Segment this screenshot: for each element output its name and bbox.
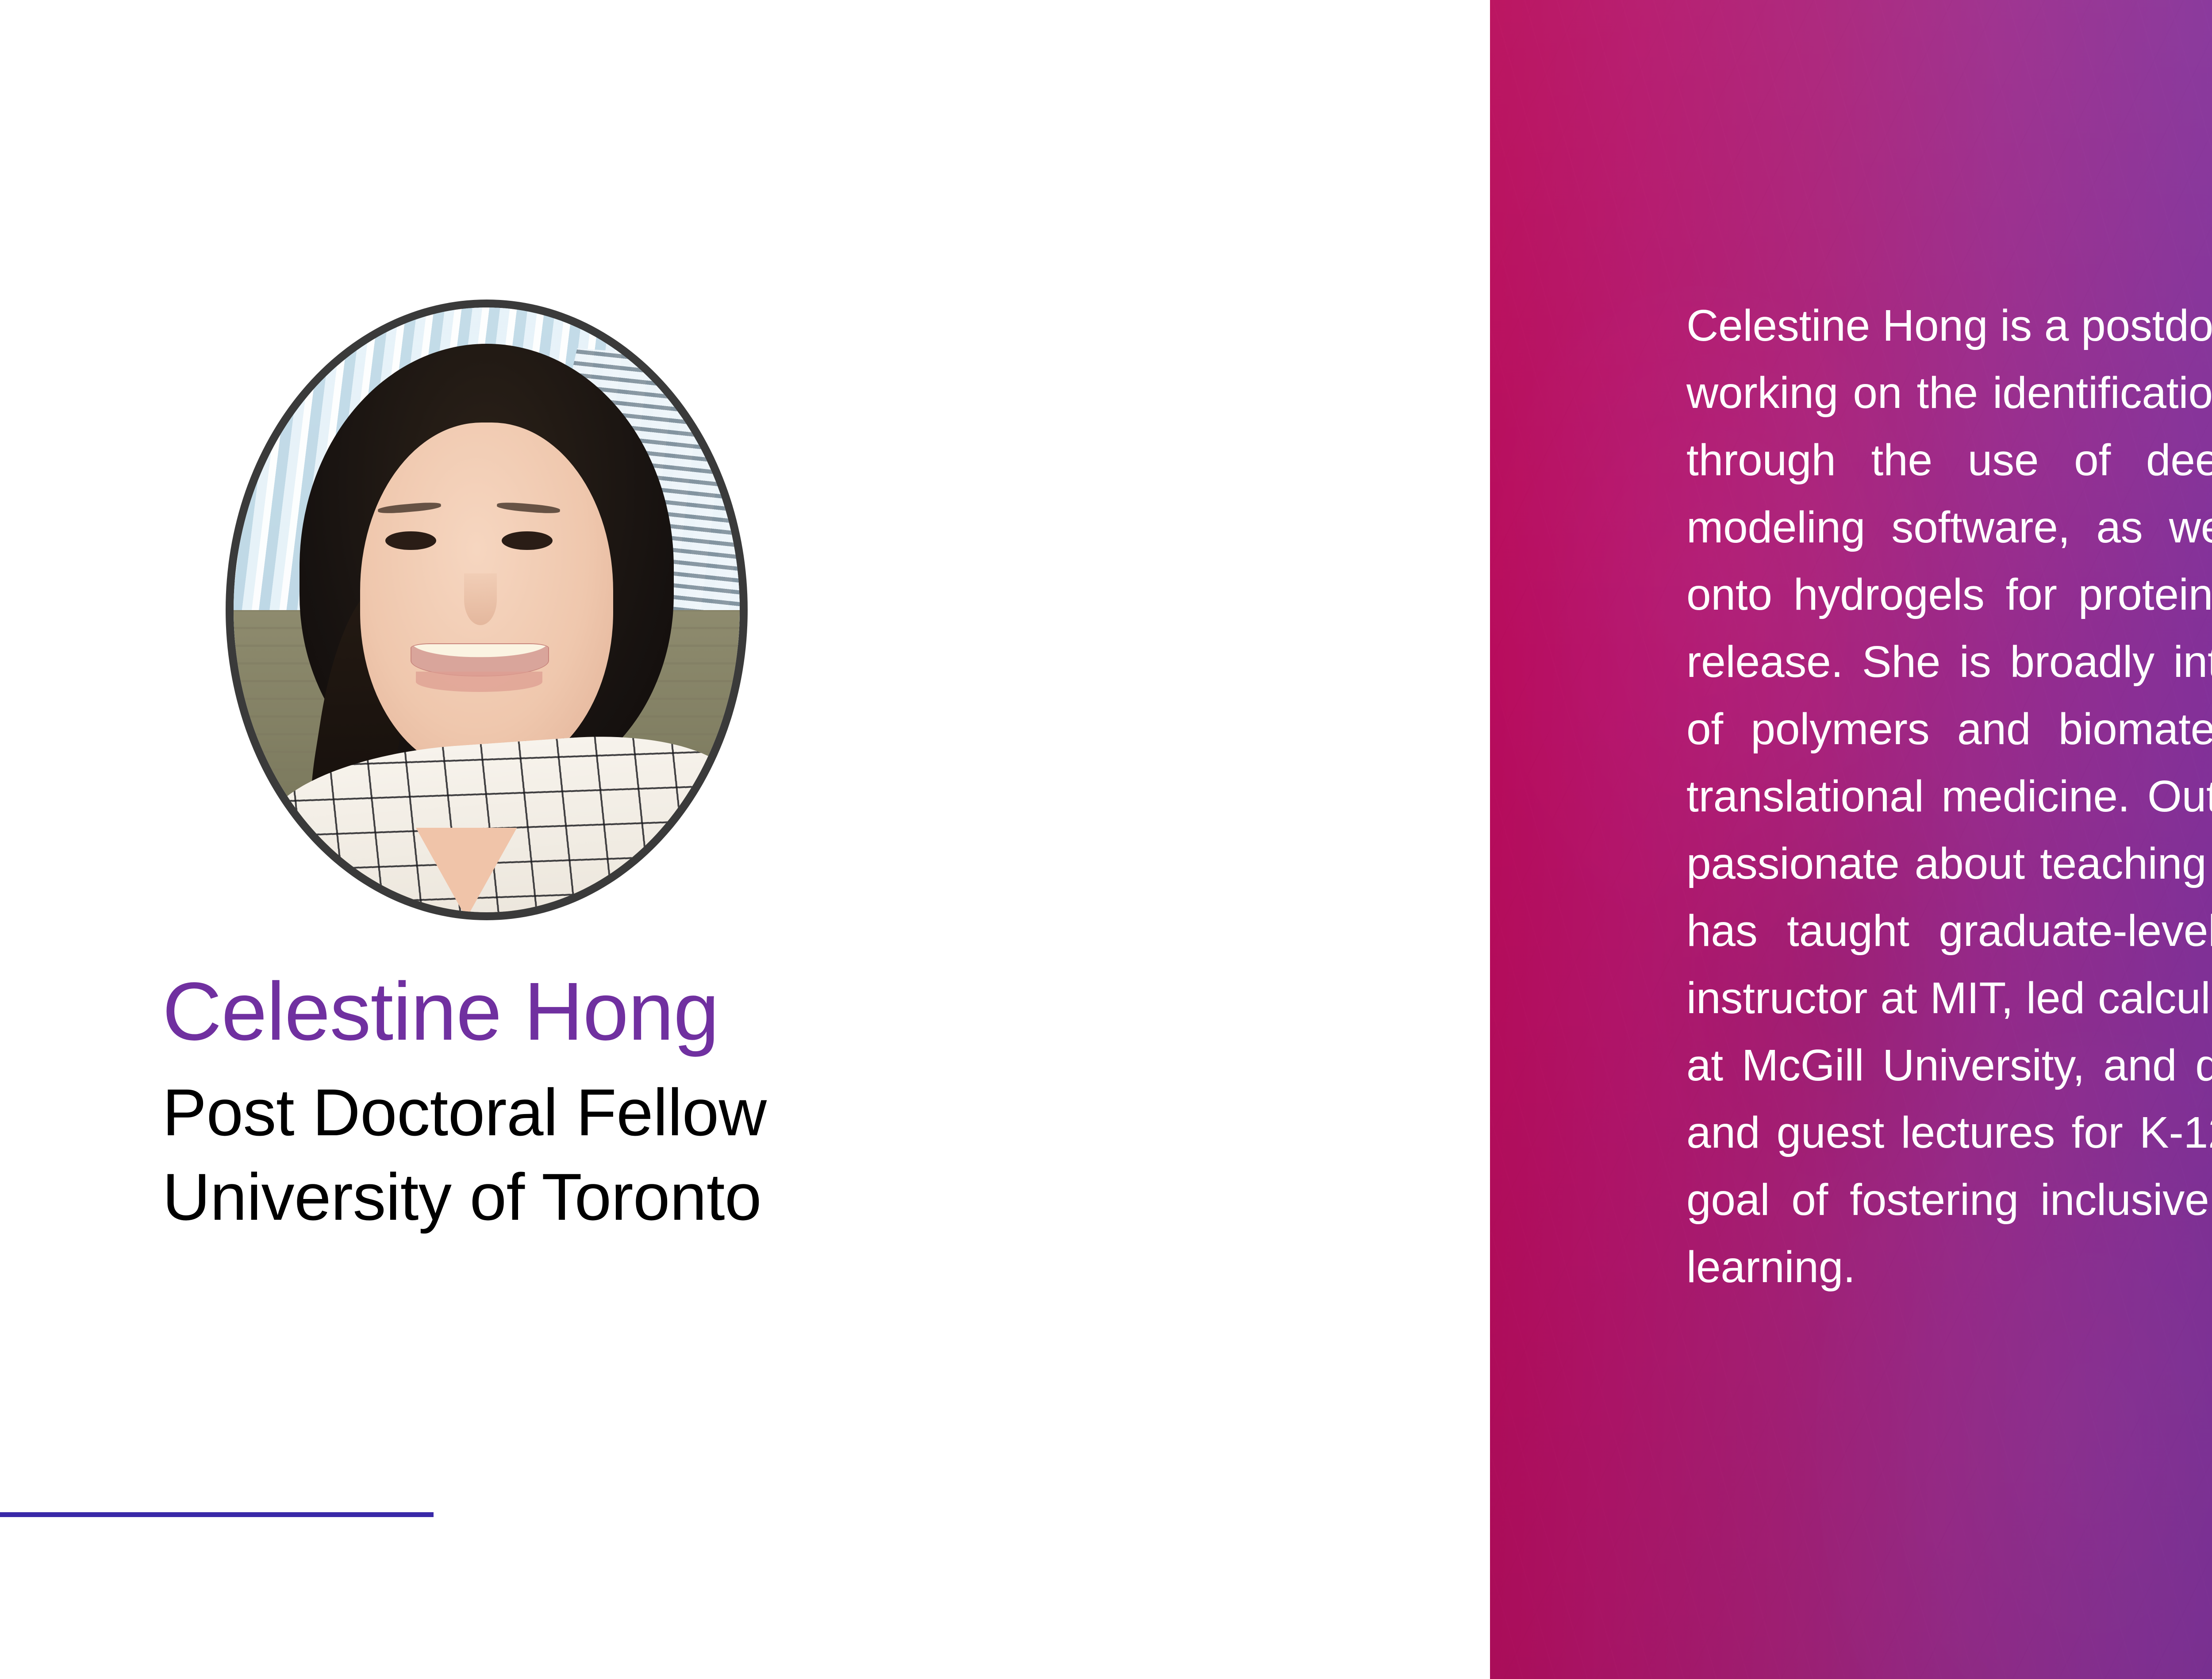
speaker-role: Post Doctoral Fellow [162, 1070, 1268, 1155]
speaker-identity-block: Celestine Hong Post Doctoral Fellow Univ… [162, 969, 1268, 1239]
left-panel: Celestine Hong Post Doctoral Fellow Univ… [0, 0, 1490, 1679]
speaker-portrait-frame [226, 300, 748, 920]
left-accent-rule [0, 1512, 434, 1517]
speaker-portrait-photo [234, 307, 740, 912]
speaker-affiliation: University of Toronto [162, 1155, 1268, 1239]
speaker-bio-paragraph: Celestine Hong is a postdoc at the Unive… [1686, 292, 2212, 1368]
right-gradient-panel: Celestine Hong is a postdoc at the Unive… [1490, 0, 2212, 1679]
portrait-eye-right [502, 531, 552, 550]
slide-canvas: Celestine Hong Post Doctoral Fellow Univ… [0, 0, 2212, 1679]
speaker-name: Celestine Hong [162, 969, 1268, 1054]
portrait-eye-left [385, 531, 436, 550]
portrait-nose [464, 573, 497, 625]
